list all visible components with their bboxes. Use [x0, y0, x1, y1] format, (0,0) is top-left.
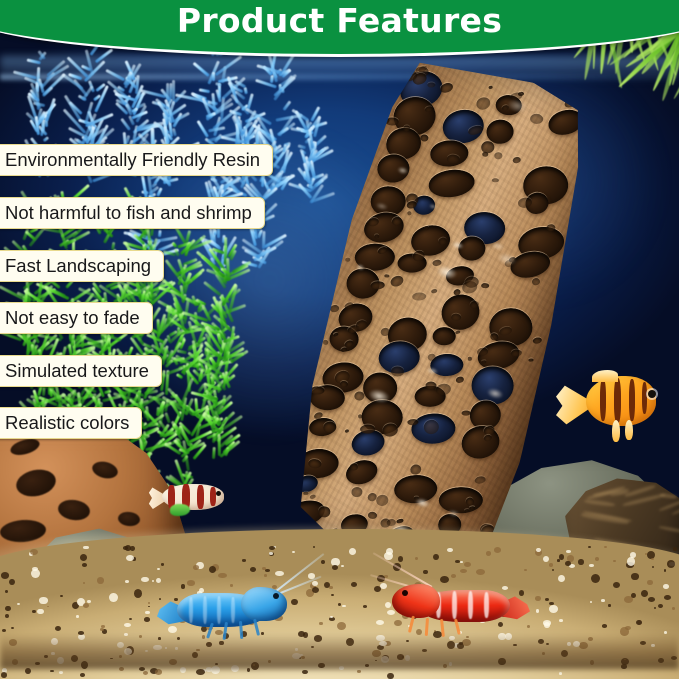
shrimp-leg — [425, 618, 429, 636]
ornament-pit — [424, 225, 429, 229]
sand-grain — [613, 560, 616, 562]
shrimp-leg — [253, 619, 260, 636]
sand-grain — [269, 546, 275, 550]
sand-grain — [337, 622, 346, 630]
sand-grain — [39, 597, 47, 603]
ornament-hole — [432, 327, 455, 346]
sand-grain — [549, 605, 558, 613]
sand-grain — [123, 546, 128, 549]
fish-red-white-striped — [148, 478, 234, 518]
sand-grain — [342, 605, 346, 607]
sand-grain — [80, 554, 87, 561]
shrimp-leg — [440, 619, 445, 637]
ornament-pit — [310, 386, 324, 394]
sand-grain — [37, 609, 43, 615]
fish-fin — [612, 420, 620, 442]
ornament-through-hole — [472, 367, 514, 405]
fish-stripe — [197, 485, 204, 509]
ornament-pit — [345, 258, 350, 262]
sand-grain — [1, 572, 9, 578]
aquarium-scene — [0, 0, 679, 679]
feature-label: Not easy to fade — [0, 302, 153, 334]
sand-grain — [363, 605, 368, 608]
sand-grain — [672, 607, 675, 610]
sand-grain — [559, 672, 562, 675]
sand-grain — [608, 604, 610, 606]
sand-grain — [76, 615, 79, 618]
fish-stripe — [210, 487, 216, 506]
sand-grain — [654, 607, 656, 609]
fish-stripe — [614, 378, 621, 423]
shrimp-eye — [273, 593, 279, 599]
sand-grain — [543, 620, 551, 626]
sand-grain — [351, 582, 357, 587]
sand-grain — [433, 554, 439, 560]
sand-grain — [269, 552, 272, 555]
sand-grain — [83, 546, 88, 550]
ornament-pit — [492, 178, 499, 182]
sand-grain — [589, 564, 594, 567]
ornament-pit — [446, 154, 459, 164]
fish-eye — [648, 390, 656, 398]
shrimp-segment — [452, 591, 457, 619]
shrimp-segment — [189, 597, 193, 623]
ornament-pit — [587, 135, 594, 141]
fish-fin — [170, 504, 190, 516]
sand-grain — [55, 626, 61, 631]
ornament-pit — [350, 463, 358, 470]
sand-grain — [535, 596, 541, 601]
sand-grain — [588, 546, 591, 548]
sand-grain — [17, 603, 20, 605]
sand-grain — [109, 593, 117, 602]
ornament-pit — [303, 492, 308, 495]
sand-grain — [126, 555, 134, 561]
sand-grain — [601, 599, 605, 602]
feature-label: Environmentally Friendly Resin — [0, 144, 273, 176]
sand-grain — [602, 624, 608, 627]
sand-grain — [558, 575, 565, 582]
sand-grain — [590, 601, 592, 603]
ornament-pit — [468, 357, 473, 361]
sand-grain — [330, 616, 333, 618]
fish-orange-striped — [556, 368, 660, 440]
page-title: Product Features — [0, 4, 679, 37]
shrimp-blue — [155, 565, 300, 645]
sand-grain — [97, 577, 104, 583]
sand-grain — [357, 670, 361, 672]
sand-grain — [143, 671, 148, 675]
feature-label: Simulated texture — [0, 355, 162, 387]
sand-grain — [566, 550, 571, 553]
shrimp-segment — [484, 592, 489, 618]
plant-stalk — [200, 250, 250, 390]
shrimp-segment — [203, 596, 207, 624]
shrimp-leg — [408, 616, 415, 633]
product-feature-image: Product Features Environmentally Friendl… — [0, 0, 679, 679]
sand-grain — [641, 590, 648, 597]
ornament-pit — [340, 381, 349, 387]
sand-grain — [673, 547, 677, 551]
sand-grain — [494, 547, 502, 553]
sand-grain — [5, 590, 8, 593]
sand-grain — [130, 546, 135, 551]
feature-label: Not harmful to fish and shrimp — [0, 197, 265, 229]
sand-grain — [667, 560, 675, 567]
sand-grain — [196, 669, 204, 675]
sand-grain — [5, 606, 10, 611]
shrimp-segment — [231, 597, 235, 623]
shrimp-head — [241, 587, 287, 621]
ornament-pit — [451, 313, 461, 320]
fish-stripe — [642, 382, 647, 414]
sand-grain — [387, 673, 393, 679]
sand-grain — [631, 573, 639, 579]
sand-grain — [100, 628, 104, 631]
sand-grain — [647, 580, 653, 585]
sand-grain — [319, 622, 322, 625]
sand-grain — [536, 548, 541, 553]
sand-grain — [32, 567, 38, 571]
sand-foreground-shadow — [0, 633, 679, 669]
feature-label: Realistic colors — [0, 407, 142, 439]
fish-stripe — [600, 379, 606, 421]
sand-grain — [664, 595, 671, 600]
fish-dorsal-fin — [592, 370, 618, 382]
shrimp-head — [392, 584, 440, 618]
shrimp-segment — [217, 596, 221, 624]
sand-grain — [302, 670, 307, 674]
fish-eye — [216, 491, 221, 496]
sand-grain — [30, 549, 38, 555]
feature-label: Fast Landscaping — [0, 250, 164, 282]
sand-grain — [559, 554, 564, 560]
sand-grain — [80, 673, 85, 677]
ornament-pit — [490, 333, 498, 340]
ornament-pit — [481, 283, 489, 288]
shrimp-red-white — [370, 562, 535, 647]
fish-fin — [625, 420, 633, 440]
ornament-pit — [403, 126, 410, 132]
sand-grain — [664, 569, 666, 571]
sand-grain — [50, 670, 54, 672]
sand-grain — [47, 606, 49, 607]
sand-grain — [663, 584, 669, 589]
ornament-pit — [293, 468, 301, 475]
shrimp-eye — [402, 590, 408, 596]
sand-grain — [591, 574, 600, 583]
sand-grain — [292, 551, 295, 553]
shrimp-segment — [468, 591, 473, 619]
fish-stripe — [629, 379, 635, 421]
ornament-pit — [308, 459, 321, 469]
sand-grain — [447, 548, 453, 552]
plant-stalk — [292, 120, 328, 204]
sand-grain — [578, 559, 583, 564]
